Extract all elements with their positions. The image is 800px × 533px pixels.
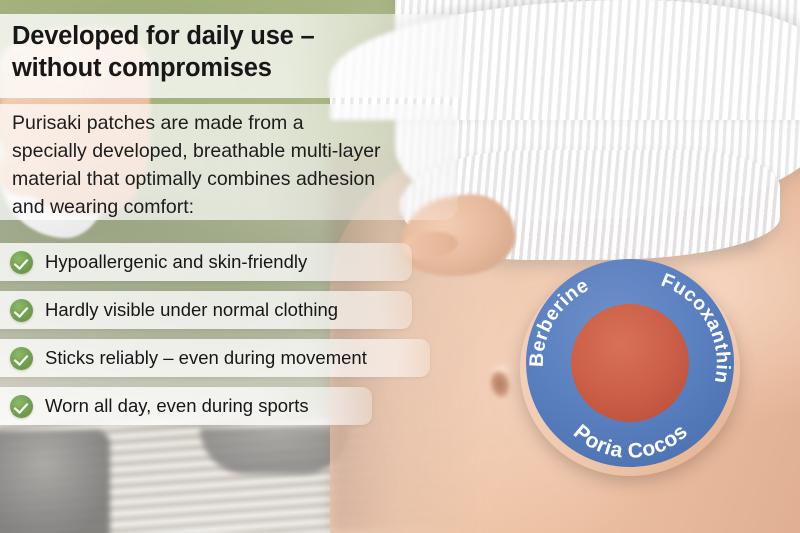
list-item: Hypoallergenic and skin-friendly: [0, 243, 412, 281]
heading-line-1: Developed for daily use –: [12, 20, 442, 52]
list-item: Hardly visible under normal clothing: [0, 291, 412, 329]
background-planter-object: [0, 430, 110, 533]
check-circle-icon: [10, 299, 33, 322]
benefit-label: Sticks reliably – even during movement: [45, 349, 367, 368]
purisaki-patch: Berberine Fucoxanthin Poria Cocos: [524, 257, 736, 469]
intro-paragraph: Purisaki patches are made from a special…: [12, 110, 452, 222]
paragraph-line-4: and wearing comfort:: [12, 194, 452, 222]
benefit-label: Worn all day, even during sports: [45, 397, 309, 416]
benefits-list: Hypoallergenic and skin-friendly Hardly …: [0, 243, 430, 435]
check-circle-icon: [10, 251, 33, 274]
benefit-label: Hypoallergenic and skin-friendly: [45, 253, 307, 272]
check-circle-icon: [10, 347, 33, 370]
paragraph-line-1: Purisaki patches are made from a: [12, 110, 452, 138]
benefit-label: Hardly visible under normal clothing: [45, 301, 338, 320]
list-item: Worn all day, even during sports: [0, 387, 372, 425]
patch-inner-core: [571, 304, 689, 422]
heading-line-2: without compromises: [12, 52, 442, 84]
check-circle-icon: [10, 395, 33, 418]
paragraph-line-3: material that optimally combines adhesio…: [12, 166, 452, 194]
list-item: Sticks reliably – even during movement: [0, 339, 430, 377]
promotional-product-image: Berberine Fucoxanthin Poria Cocos Develo…: [0, 0, 800, 533]
paragraph-line-2: specially developed, breathable multi-la…: [12, 138, 452, 166]
page-title: Developed for daily use – without compro…: [12, 20, 442, 85]
